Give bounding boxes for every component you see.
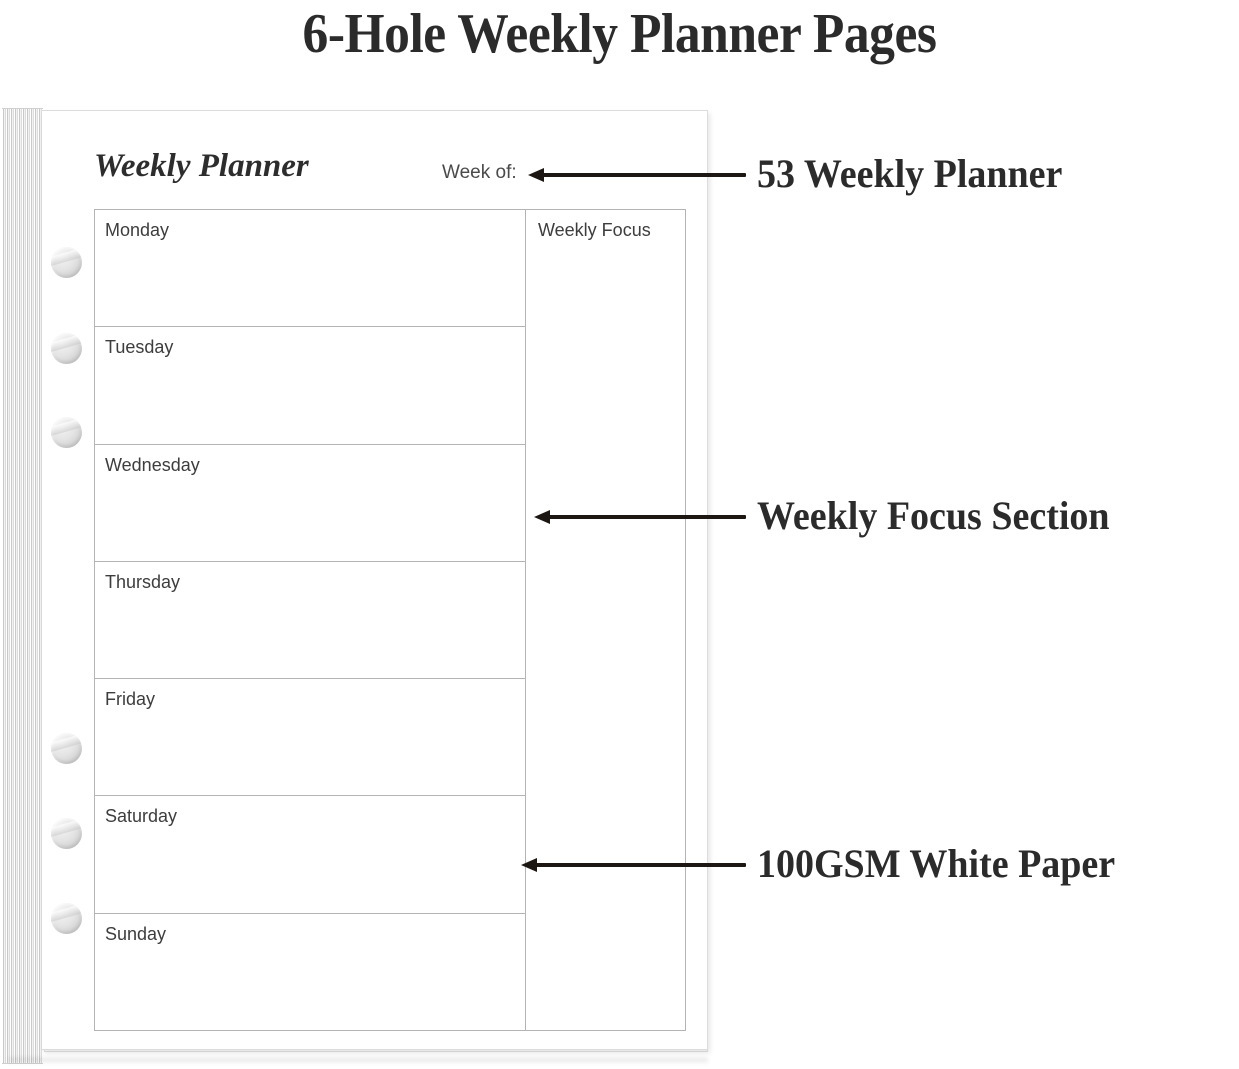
planner-product-image: 6-Hole Weekly Planner Pages Weekly Plann… [0, 0, 1239, 1069]
callout-arrow-icon [528, 167, 746, 183]
stack-shadow [8, 1058, 708, 1064]
callout-label: 53 Weekly Planner [757, 150, 1062, 198]
day-label: Monday [105, 220, 169, 240]
day-cell-friday[interactable]: Friday [95, 679, 525, 796]
weekly-focus-label: Weekly Focus [538, 220, 651, 240]
weekly-focus-column[interactable]: Weekly Focus [525, 209, 686, 1031]
hole-punch-5 [51, 818, 82, 849]
day-cell-thursday[interactable]: Thursday [95, 562, 525, 679]
planner-heading: Weekly Planner [94, 147, 309, 185]
hole-punch-6 [51, 903, 82, 934]
day-label: Friday [105, 689, 155, 709]
callout-arrow-icon [534, 509, 746, 525]
day-cell-monday[interactable]: Monday [95, 210, 525, 327]
day-cell-wednesday[interactable]: Wednesday [95, 445, 525, 562]
day-label: Saturday [105, 806, 177, 826]
paper-stack-edge [2, 108, 43, 1064]
hole-punch-2 [51, 333, 82, 364]
planner-page: Weekly Planner Week of: Monday Tuesday W… [42, 110, 708, 1050]
day-label: Sunday [105, 924, 166, 944]
days-column: Monday Tuesday Wednesday Thursday Friday… [94, 209, 525, 1031]
hole-punch-1 [51, 247, 82, 278]
callout-arrow-icon [521, 857, 746, 873]
callout-label: 100GSM White Paper [757, 840, 1115, 888]
day-label: Thursday [105, 572, 180, 592]
page-title: 6-Hole Weekly Planner Pages [50, 2, 1190, 66]
hole-punch-4 [51, 733, 82, 764]
weekly-grid: Monday Tuesday Wednesday Thursday Friday… [94, 209, 686, 1031]
week-of-label: Week of: [442, 161, 517, 185]
day-label: Tuesday [105, 337, 173, 357]
day-cell-tuesday[interactable]: Tuesday [95, 327, 525, 444]
day-cell-sunday[interactable]: Sunday [95, 914, 525, 1030]
day-cell-saturday[interactable]: Saturday [95, 796, 525, 913]
callout-label: Weekly Focus Section [757, 492, 1110, 540]
hole-punch-3 [51, 417, 82, 448]
day-label: Wednesday [105, 455, 200, 475]
